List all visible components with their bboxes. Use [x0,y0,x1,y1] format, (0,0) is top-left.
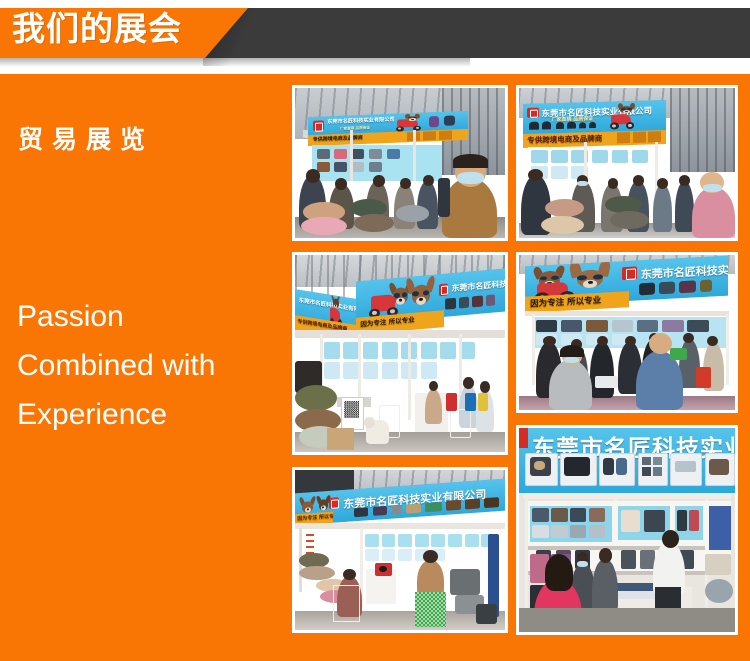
slogan-line-3: Experience [17,390,282,439]
gallery-photo-booth-banner-closeup[interactable]: 东莞市名匠科技实业有限公司 厂家直销 品质保证 [516,85,738,241]
left-text-column: 贸易展览 Passion Combined with Experience [0,74,292,661]
gallery-photo-booth-carrier-display[interactable]: 东莞市名匠科技实业有 [516,425,738,635]
photo-scene: 东莞市名匠科技实业有限公司 专供跨境电商及品牌商 东莞市名 [295,255,505,452]
photo-scene: 东莞市名匠科技实业有限公司 [519,255,735,410]
photo-scene: 东莞市名匠科技实业有限公司 [295,470,505,630]
page-header: 我们的展会 [0,0,750,74]
gallery-photo-booth-corner-wide[interactable]: 东莞市名匠科技实业有限公司 专供跨境电商及品牌商 东莞市名 [292,252,508,455]
slogan-line-2: Combined with [17,341,282,390]
photo-scene: 东莞市名匠科技实业有 [519,428,735,632]
gallery-photo-booth-busy-interior[interactable]: 东莞市名匠科技实业有限公司 [516,252,738,413]
photo-scene: 东莞市名匠科技实业有限公司 厂家直销 品质保证 [295,88,505,238]
slogan-block: Passion Combined with Experience [17,292,282,439]
gallery-photo-booth-crowd-front[interactable]: 东莞市名匠科技实业有限公司 厂家直销 品质保证 [292,85,508,241]
slogan-line-1: Passion [17,292,282,341]
gallery-photo-booth-side-view[interactable]: 东莞市名匠科技实业有限公司 [292,467,508,633]
photo-gallery-grid: 东莞市名匠科技实业有限公司 厂家直销 品质保证 [292,85,738,635]
page-root: 我们的展会 贸易展览 Passion Combined with Experie… [0,0,750,661]
section-subtitle: 贸易展览 [18,120,154,156]
page-title: 我们的展会 [12,10,182,48]
photo-scene: 东莞市名匠科技实业有限公司 厂家直销 品质保证 [519,88,735,238]
